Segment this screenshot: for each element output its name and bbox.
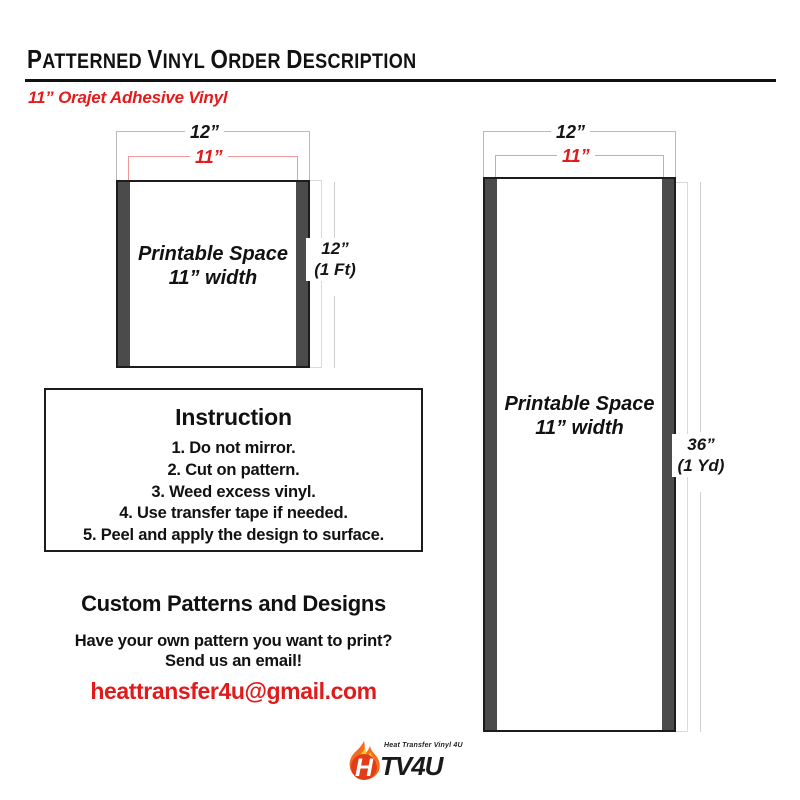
vertical-dimension-line-bottom-12in: [334, 296, 335, 368]
roll-edge-strip-left-tall: [485, 179, 497, 730]
dimension-label-inner-11in: 11”: [190, 148, 228, 166]
vertical-dimension-line-top-36in: [700, 182, 701, 432]
htv4u-logo: H Heat Transfer Vinyl 4U TV4U: [344, 740, 462, 784]
instruction-step: 2. Cut on pattern.: [46, 460, 421, 482]
svg-text:H: H: [355, 754, 374, 782]
custom-patterns-line2: Send us an email!: [44, 652, 423, 671]
instruction-step-list: 1. Do not mirror. 2. Cut on pattern. 3. …: [46, 438, 421, 547]
roll-label-line1-tall: Printable Space: [497, 392, 662, 416]
roll-edge-strip-left: [118, 182, 130, 366]
page-title: PATTERNED VINYL ORDER DESCRIPTION: [27, 44, 417, 75]
roll-label-12in: Printable Space 11” width: [130, 242, 296, 291]
vertical-dimension-secondary-36in: (1 Yd): [672, 455, 730, 476]
vertical-dimension-line-bottom-36in: [700, 492, 701, 732]
vertical-dimension-secondary-12in: (1 Ft): [306, 259, 364, 280]
contact-email[interactable]: heattransfer4u@gmail.com: [44, 678, 423, 705]
custom-patterns-heading: Custom Patterns and Designs: [44, 591, 423, 617]
dimension-label-outer-12in: 12”: [185, 123, 224, 141]
vinyl-roll-12in: Printable Space 11” width: [116, 180, 310, 368]
dimension-label-outer-12in-tall: 12”: [551, 123, 590, 141]
vertical-dimension-primary-12in: 12”: [306, 238, 364, 259]
roll-label-36in: Printable Space 11” width: [497, 392, 662, 441]
vertical-dimension-label-12in: 12” (1 Ft): [306, 238, 364, 281]
vinyl-roll-36in: Printable Space 11” width: [483, 177, 676, 732]
instruction-step: 4. Use transfer tape if needed.: [46, 503, 421, 525]
instruction-box: Instruction 1. Do not mirror. 2. Cut on …: [44, 388, 423, 552]
vertical-dimension-primary-36in: 36”: [672, 434, 730, 455]
vertical-dimension-line-top-12in: [334, 182, 335, 238]
flame-icon: H: [344, 740, 384, 782]
instruction-step: 1. Do not mirror.: [46, 438, 421, 460]
vertical-dimension-label-36in: 36” (1 Yd): [672, 434, 730, 477]
roll-label-line2-tall: 11” width: [497, 416, 662, 440]
dimension-label-inner-11in-tall: 11”: [557, 147, 595, 165]
title-divider: [25, 79, 776, 82]
instruction-step: 5. Peel and apply the design to surface.: [46, 525, 421, 547]
logo-tagline: Heat Transfer Vinyl 4U: [384, 742, 463, 749]
custom-patterns-line1: Have your own pattern you want to print?: [44, 632, 423, 651]
roll-label-line1: Printable Space: [130, 242, 296, 266]
product-subtitle: 11” Orajet Adhesive Vinyl: [28, 88, 227, 108]
instruction-step: 3. Weed excess vinyl.: [46, 482, 421, 504]
instruction-title: Instruction: [46, 404, 421, 431]
logo-wordmark: TV4U: [380, 751, 442, 782]
roll-label-line2: 11” width: [130, 266, 296, 290]
